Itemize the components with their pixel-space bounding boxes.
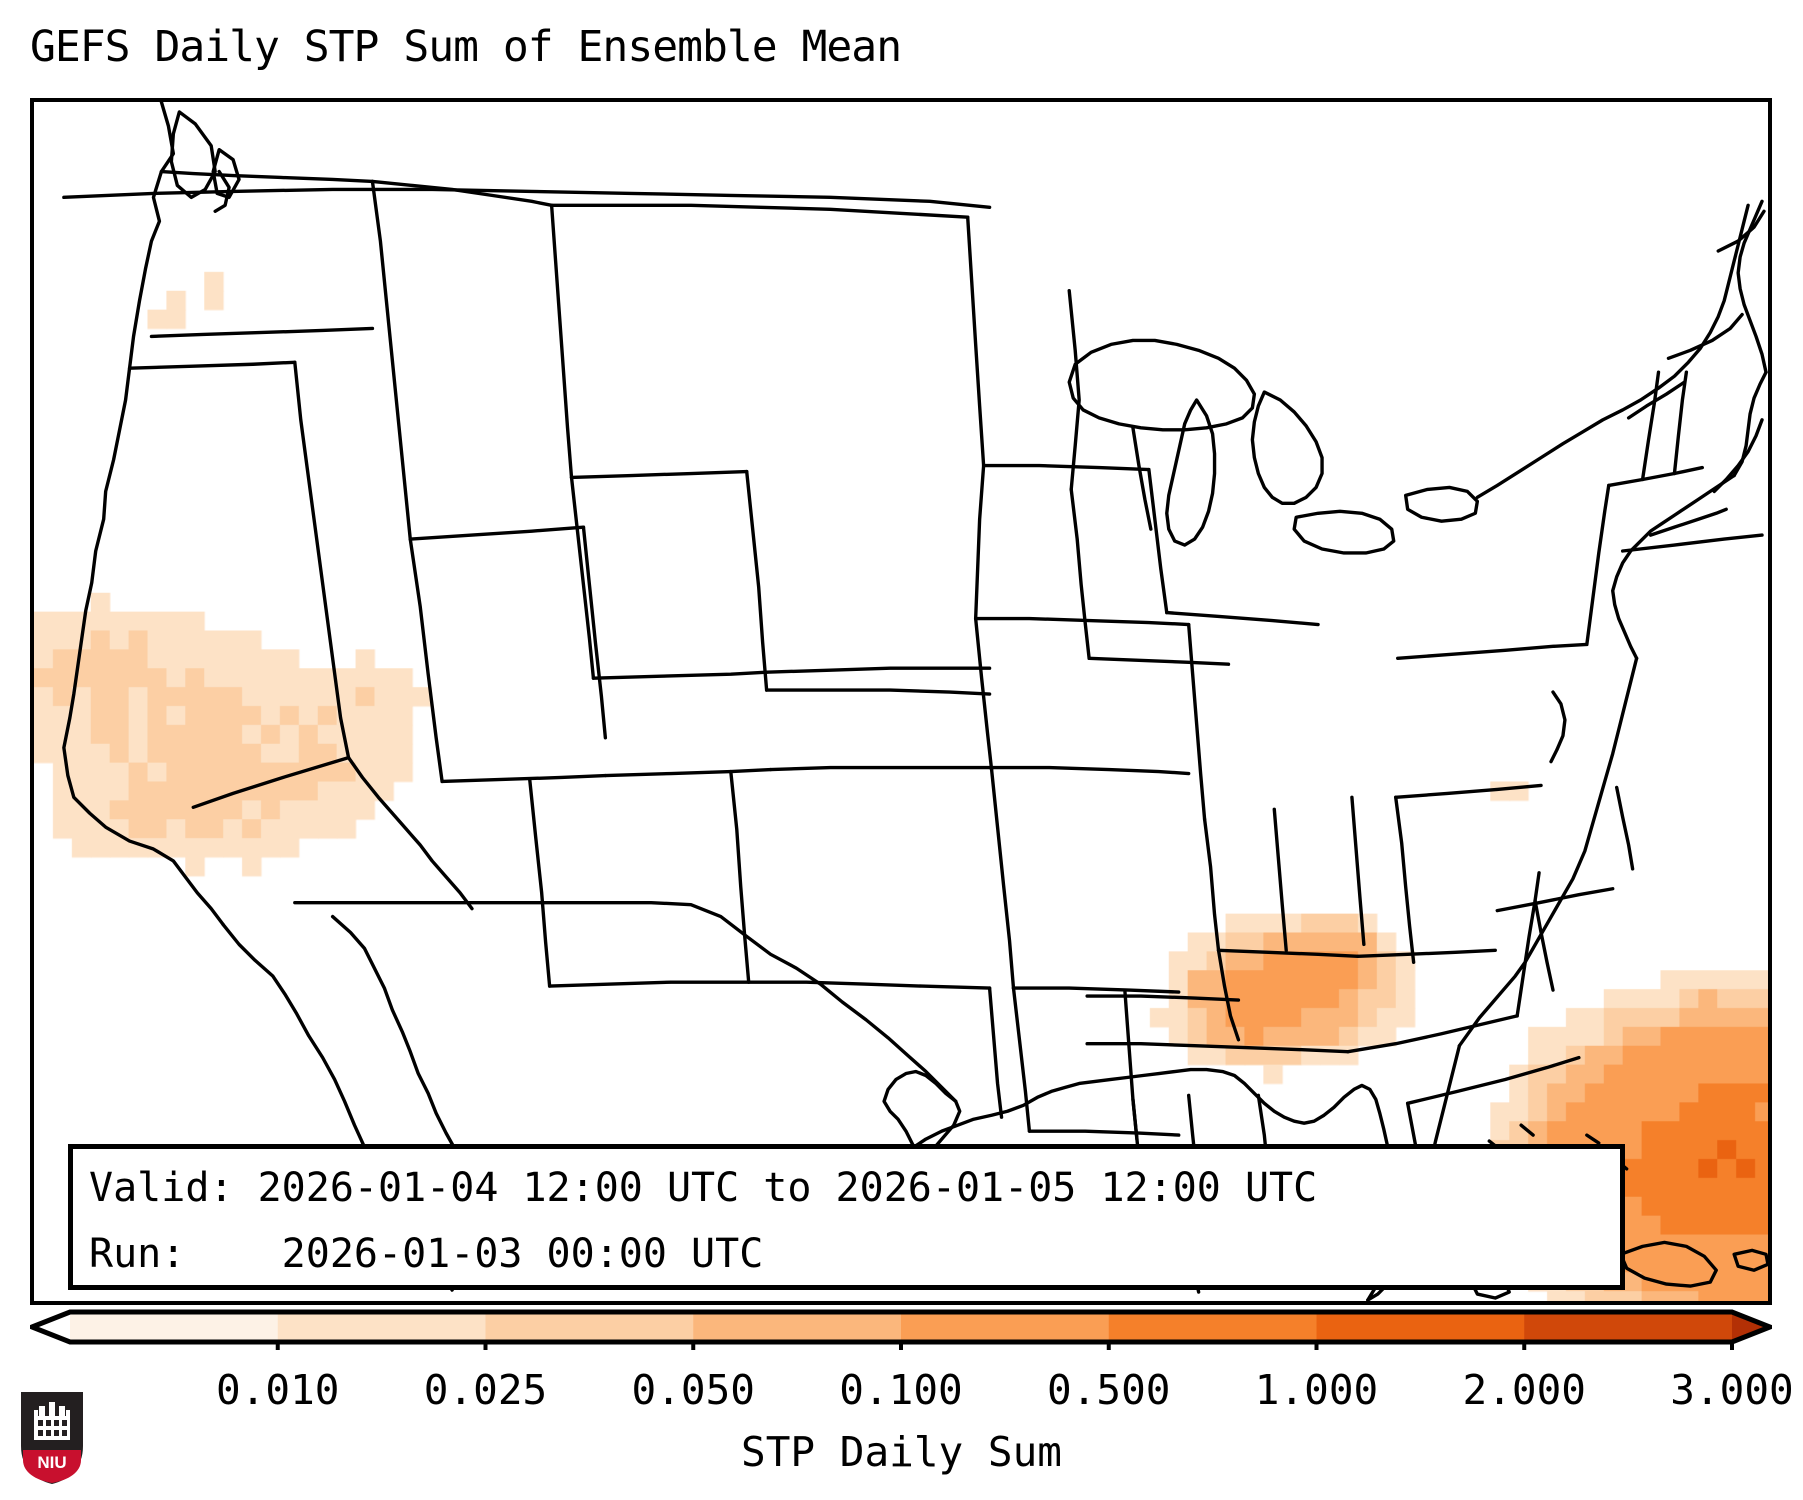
colorbar-band-2 bbox=[486, 1312, 694, 1342]
colorbar-tick-label-5: 1.000 bbox=[1255, 1366, 1378, 1414]
colorbar-tick-label-6: 2.000 bbox=[1463, 1366, 1586, 1414]
forecast-info-box: Valid: 2026-01-04 12:00 UTC to 2026-01-0… bbox=[68, 1144, 1625, 1290]
valid-time-line: Valid: 2026-01-04 12:00 UTC to 2026-01-0… bbox=[89, 1155, 1604, 1221]
page-title: GEFS Daily STP Sum of Ensemble Mean bbox=[30, 22, 901, 72]
colorbar-tick-label-2: 0.050 bbox=[632, 1366, 755, 1414]
colorbar-band-0 bbox=[70, 1312, 278, 1342]
colorbar-band-4 bbox=[901, 1312, 1109, 1342]
niu-logo-text: NIU bbox=[37, 1453, 66, 1472]
run-time-line: Run: 2026-01-03 00:00 UTC bbox=[89, 1221, 1604, 1287]
colorbar-band-6 bbox=[1317, 1312, 1525, 1342]
colorbar-band-7 bbox=[1524, 1312, 1732, 1342]
colorbar-tick-label-0: 0.010 bbox=[216, 1366, 339, 1414]
colorbar-band-3 bbox=[693, 1312, 901, 1342]
colorbar-swatches bbox=[30, 1306, 1772, 1350]
map-panel[interactable] bbox=[30, 98, 1772, 1305]
colorbar-band-1 bbox=[278, 1312, 486, 1342]
coastline-and-state-borders bbox=[64, 102, 1768, 1300]
colorbar-tick-label-1: 0.025 bbox=[424, 1366, 547, 1414]
colorbar-axis-label: STP Daily Sum bbox=[0, 1428, 1803, 1476]
colorbar-band-5 bbox=[1109, 1312, 1317, 1342]
map-geography-overlay bbox=[34, 102, 1768, 1301]
colorbar-tick-labels: 0.0100.0250.0500.1000.5001.0002.0003.000 bbox=[0, 1366, 1803, 1416]
colorbar-tick-label-3: 0.100 bbox=[839, 1366, 962, 1414]
colorbar[interactable] bbox=[30, 1306, 1772, 1350]
colorbar-tick-label-4: 0.500 bbox=[1047, 1366, 1170, 1414]
colorbar-tick-label-7: 3.000 bbox=[1670, 1366, 1793, 1414]
niu-logo: NIU bbox=[17, 1388, 87, 1486]
weather-map-figure: GEFS Daily STP Sum of Ensemble Mean bbox=[0, 0, 1803, 1500]
